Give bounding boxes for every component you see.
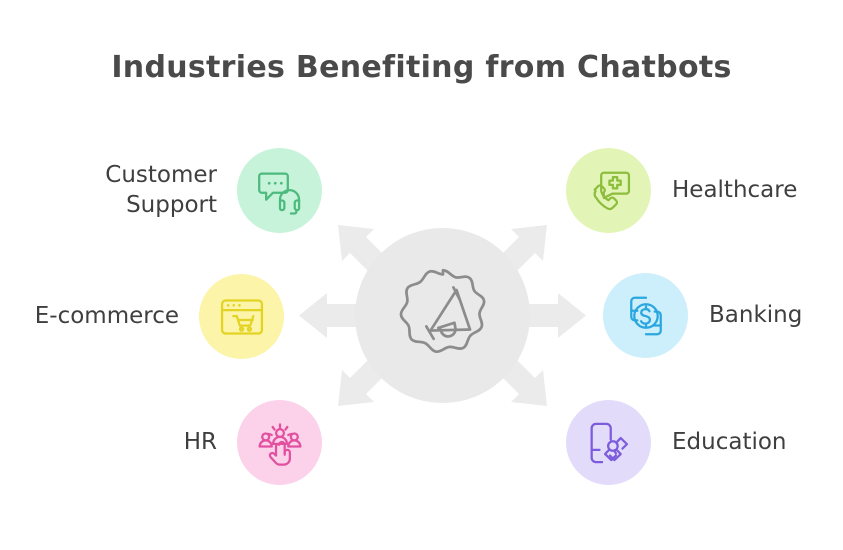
node-customer-support[interactable]: Customer Support	[60, 148, 322, 233]
chat-bubble-headset-icon	[254, 165, 306, 217]
megaphone-badge-icon	[391, 264, 495, 368]
node-ecommerce[interactable]: E-commerce	[10, 274, 284, 359]
node-icon-circle-ecommerce[interactable]	[199, 274, 284, 359]
chatbot-hub[interactable]	[355, 228, 530, 403]
dollar-coin-cards-icon	[620, 290, 672, 342]
infographic-canvas: Industries Benefiting from Chatbots	[0, 0, 843, 550]
node-label-education: Education	[672, 428, 787, 457]
node-label-healthcare: Healthcare	[672, 176, 797, 205]
tablet-award-ribbon-icon	[583, 417, 635, 469]
node-label-customer-support: Customer Support	[105, 161, 217, 220]
people-pointing-hand-icon	[254, 417, 306, 469]
node-hr[interactable]: HR	[110, 400, 322, 485]
node-label-hr: HR	[184, 428, 217, 457]
node-icon-circle-customer-support[interactable]	[237, 148, 322, 233]
node-icon-circle-hr[interactable]	[237, 400, 322, 485]
node-icon-circle-banking[interactable]	[603, 273, 688, 358]
node-icon-circle-healthcare[interactable]	[566, 148, 651, 233]
node-label-ecommerce: E-commerce	[35, 302, 179, 331]
node-banking[interactable]: Banking	[603, 273, 802, 358]
phone-medical-chat-icon	[583, 165, 635, 217]
node-healthcare[interactable]: Healthcare	[566, 148, 797, 233]
node-education[interactable]: Education	[566, 400, 787, 485]
node-label-banking: Banking	[709, 301, 802, 330]
browser-shopping-cart-icon	[216, 291, 268, 343]
node-icon-circle-education[interactable]	[566, 400, 651, 485]
